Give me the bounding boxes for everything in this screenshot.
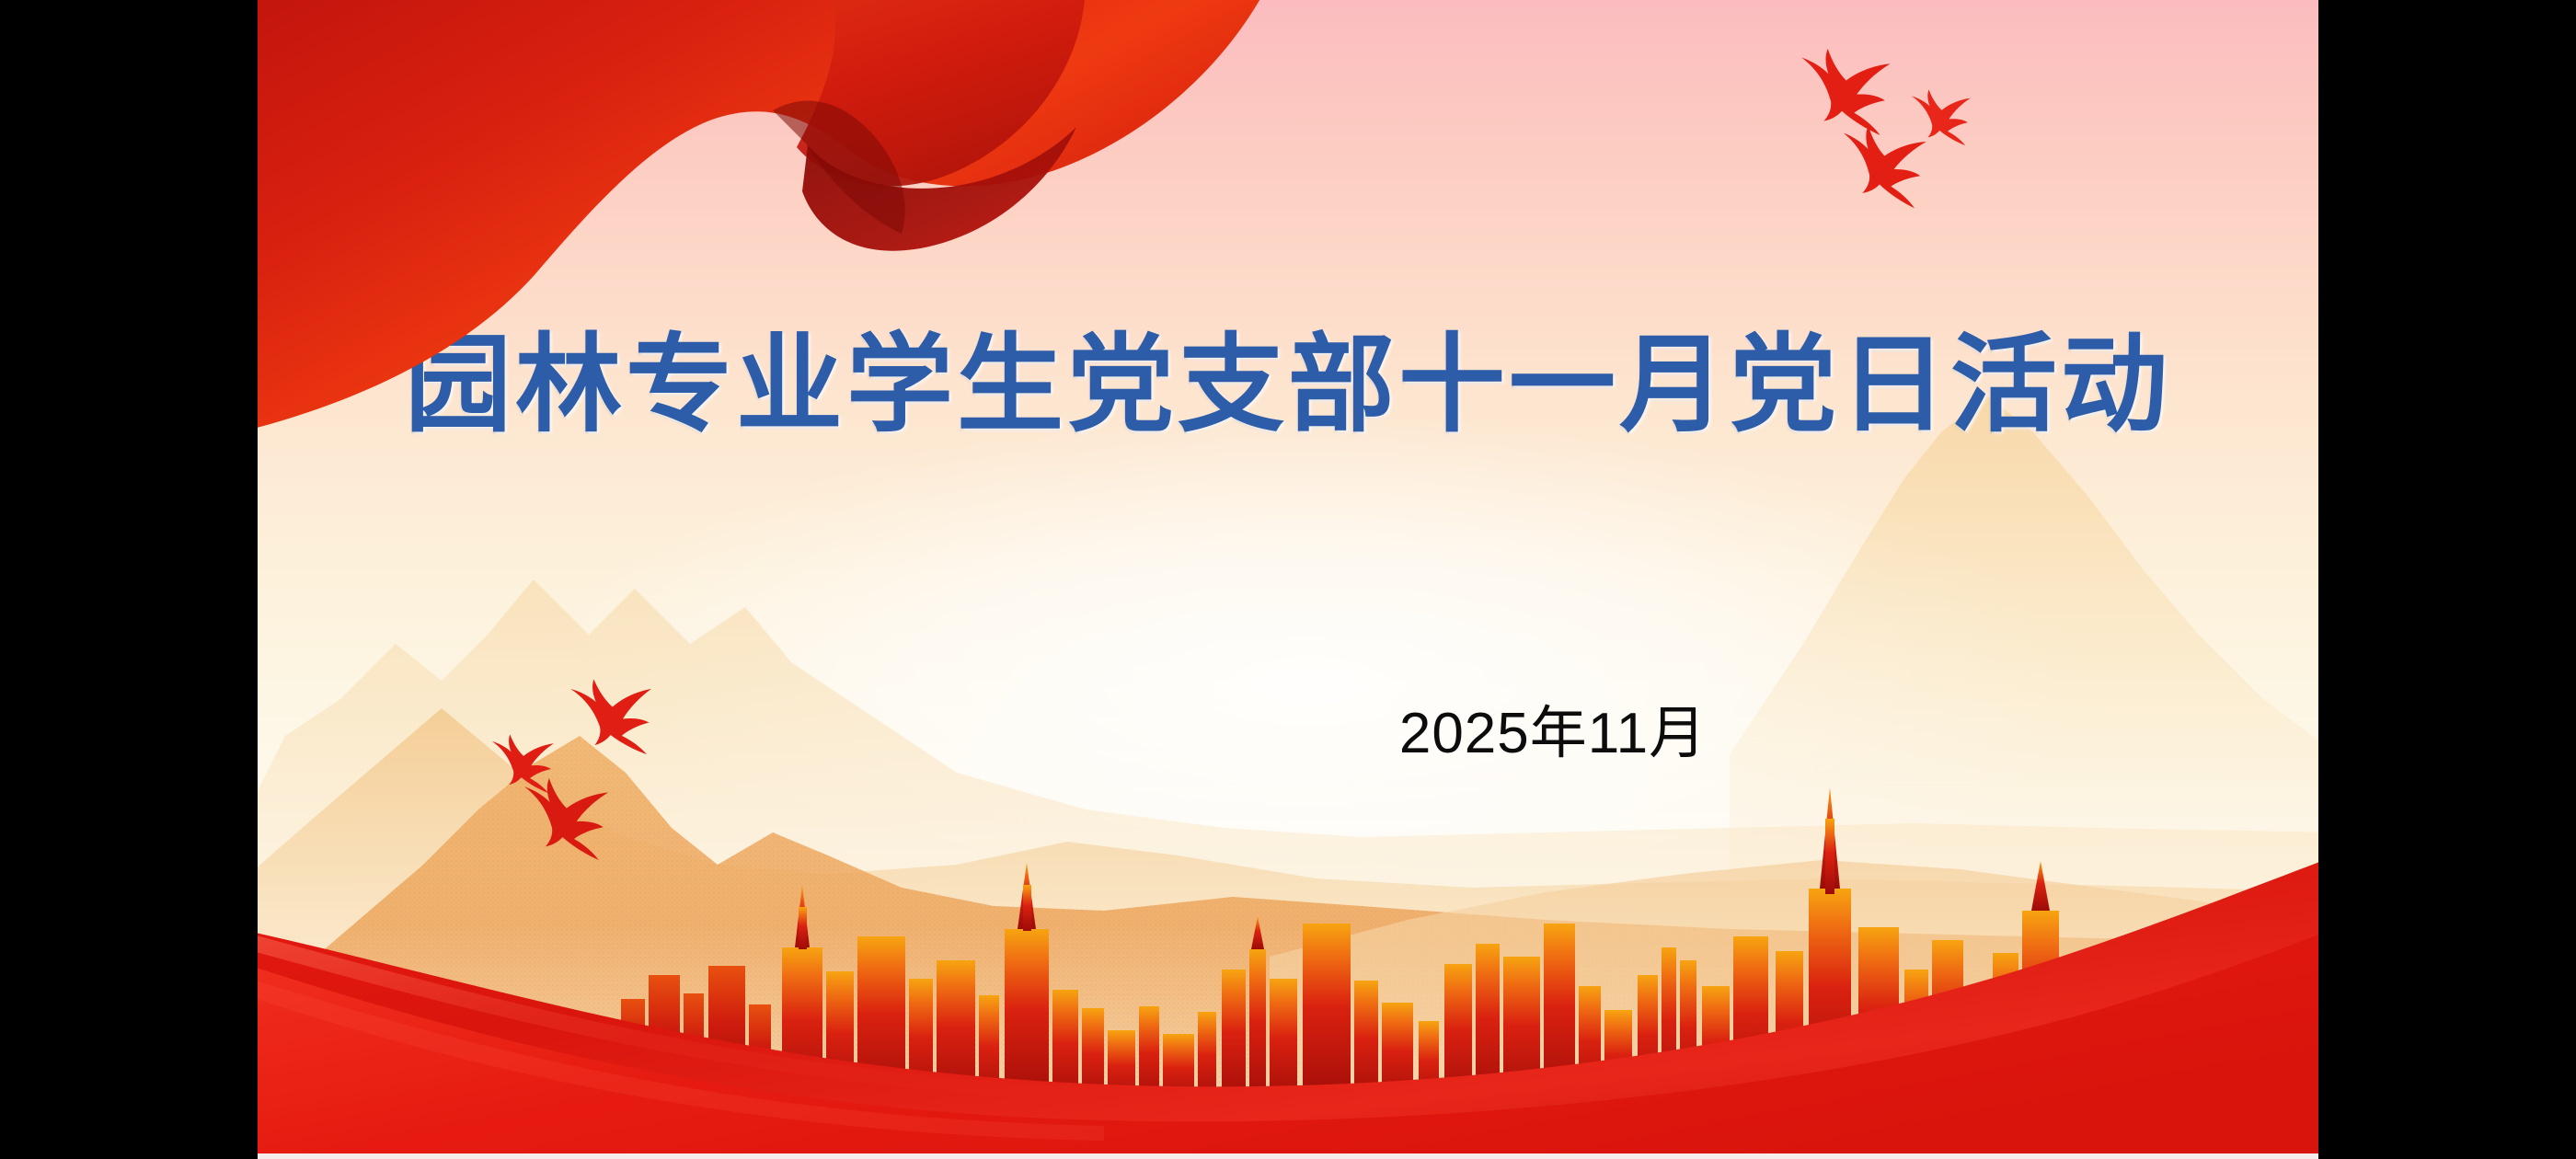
slide-canvas: 园林专业学生党支部十一月党日活动 2025年11月 [258, 0, 2318, 1159]
red-flag-ribbon [258, 0, 2318, 1159]
presentation-screen: 园林专业学生党支部十一月党日活动 2025年11月 [0, 0, 2576, 1159]
letterbox-left [0, 0, 258, 1159]
letterbox-right [2318, 0, 2576, 1159]
